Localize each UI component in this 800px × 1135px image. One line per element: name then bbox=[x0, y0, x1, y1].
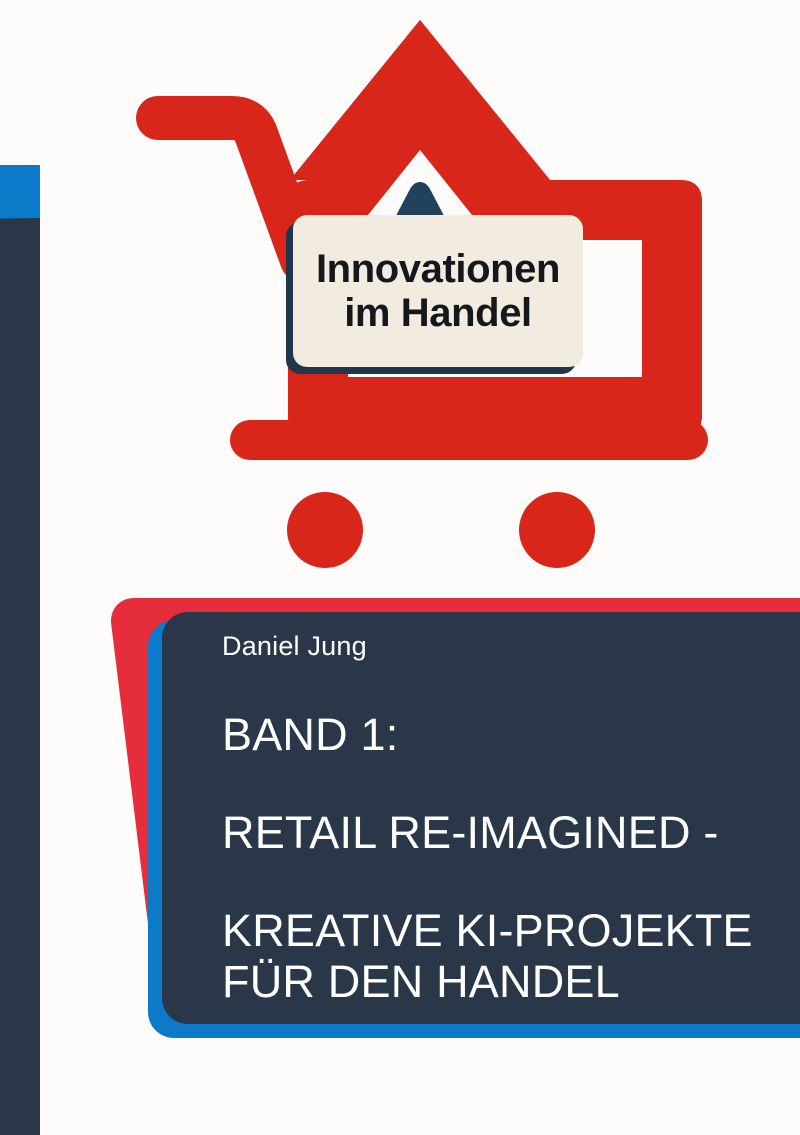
volume-label: BAND 1: bbox=[222, 710, 782, 760]
innovation-sign: Innovationen im Handel bbox=[293, 215, 583, 367]
spine-strip bbox=[0, 0, 40, 1135]
subtitle-line: RETAIL RE-IMAGINED - bbox=[222, 808, 782, 858]
tagline-block: KREATIVE KI-PROJEKTE FÜR DEN HANDEL bbox=[222, 906, 782, 1007]
author-name: Daniel Jung bbox=[222, 632, 782, 662]
book-cover: Innovationen im Handel Daniel Jung BAND … bbox=[0, 0, 800, 1135]
sign-line-1: Innovationen bbox=[316, 248, 560, 290]
title-panel-content: Daniel Jung BAND 1: RETAIL RE-IMAGINED -… bbox=[222, 632, 782, 1012]
tagline-line-2: FÜR DEN HANDEL bbox=[222, 957, 782, 1007]
sign-line-2: im Handel bbox=[344, 292, 532, 334]
tagline-line-1: KREATIVE KI-PROJEKTE bbox=[222, 906, 782, 956]
spine-navy-block bbox=[0, 250, 40, 1135]
